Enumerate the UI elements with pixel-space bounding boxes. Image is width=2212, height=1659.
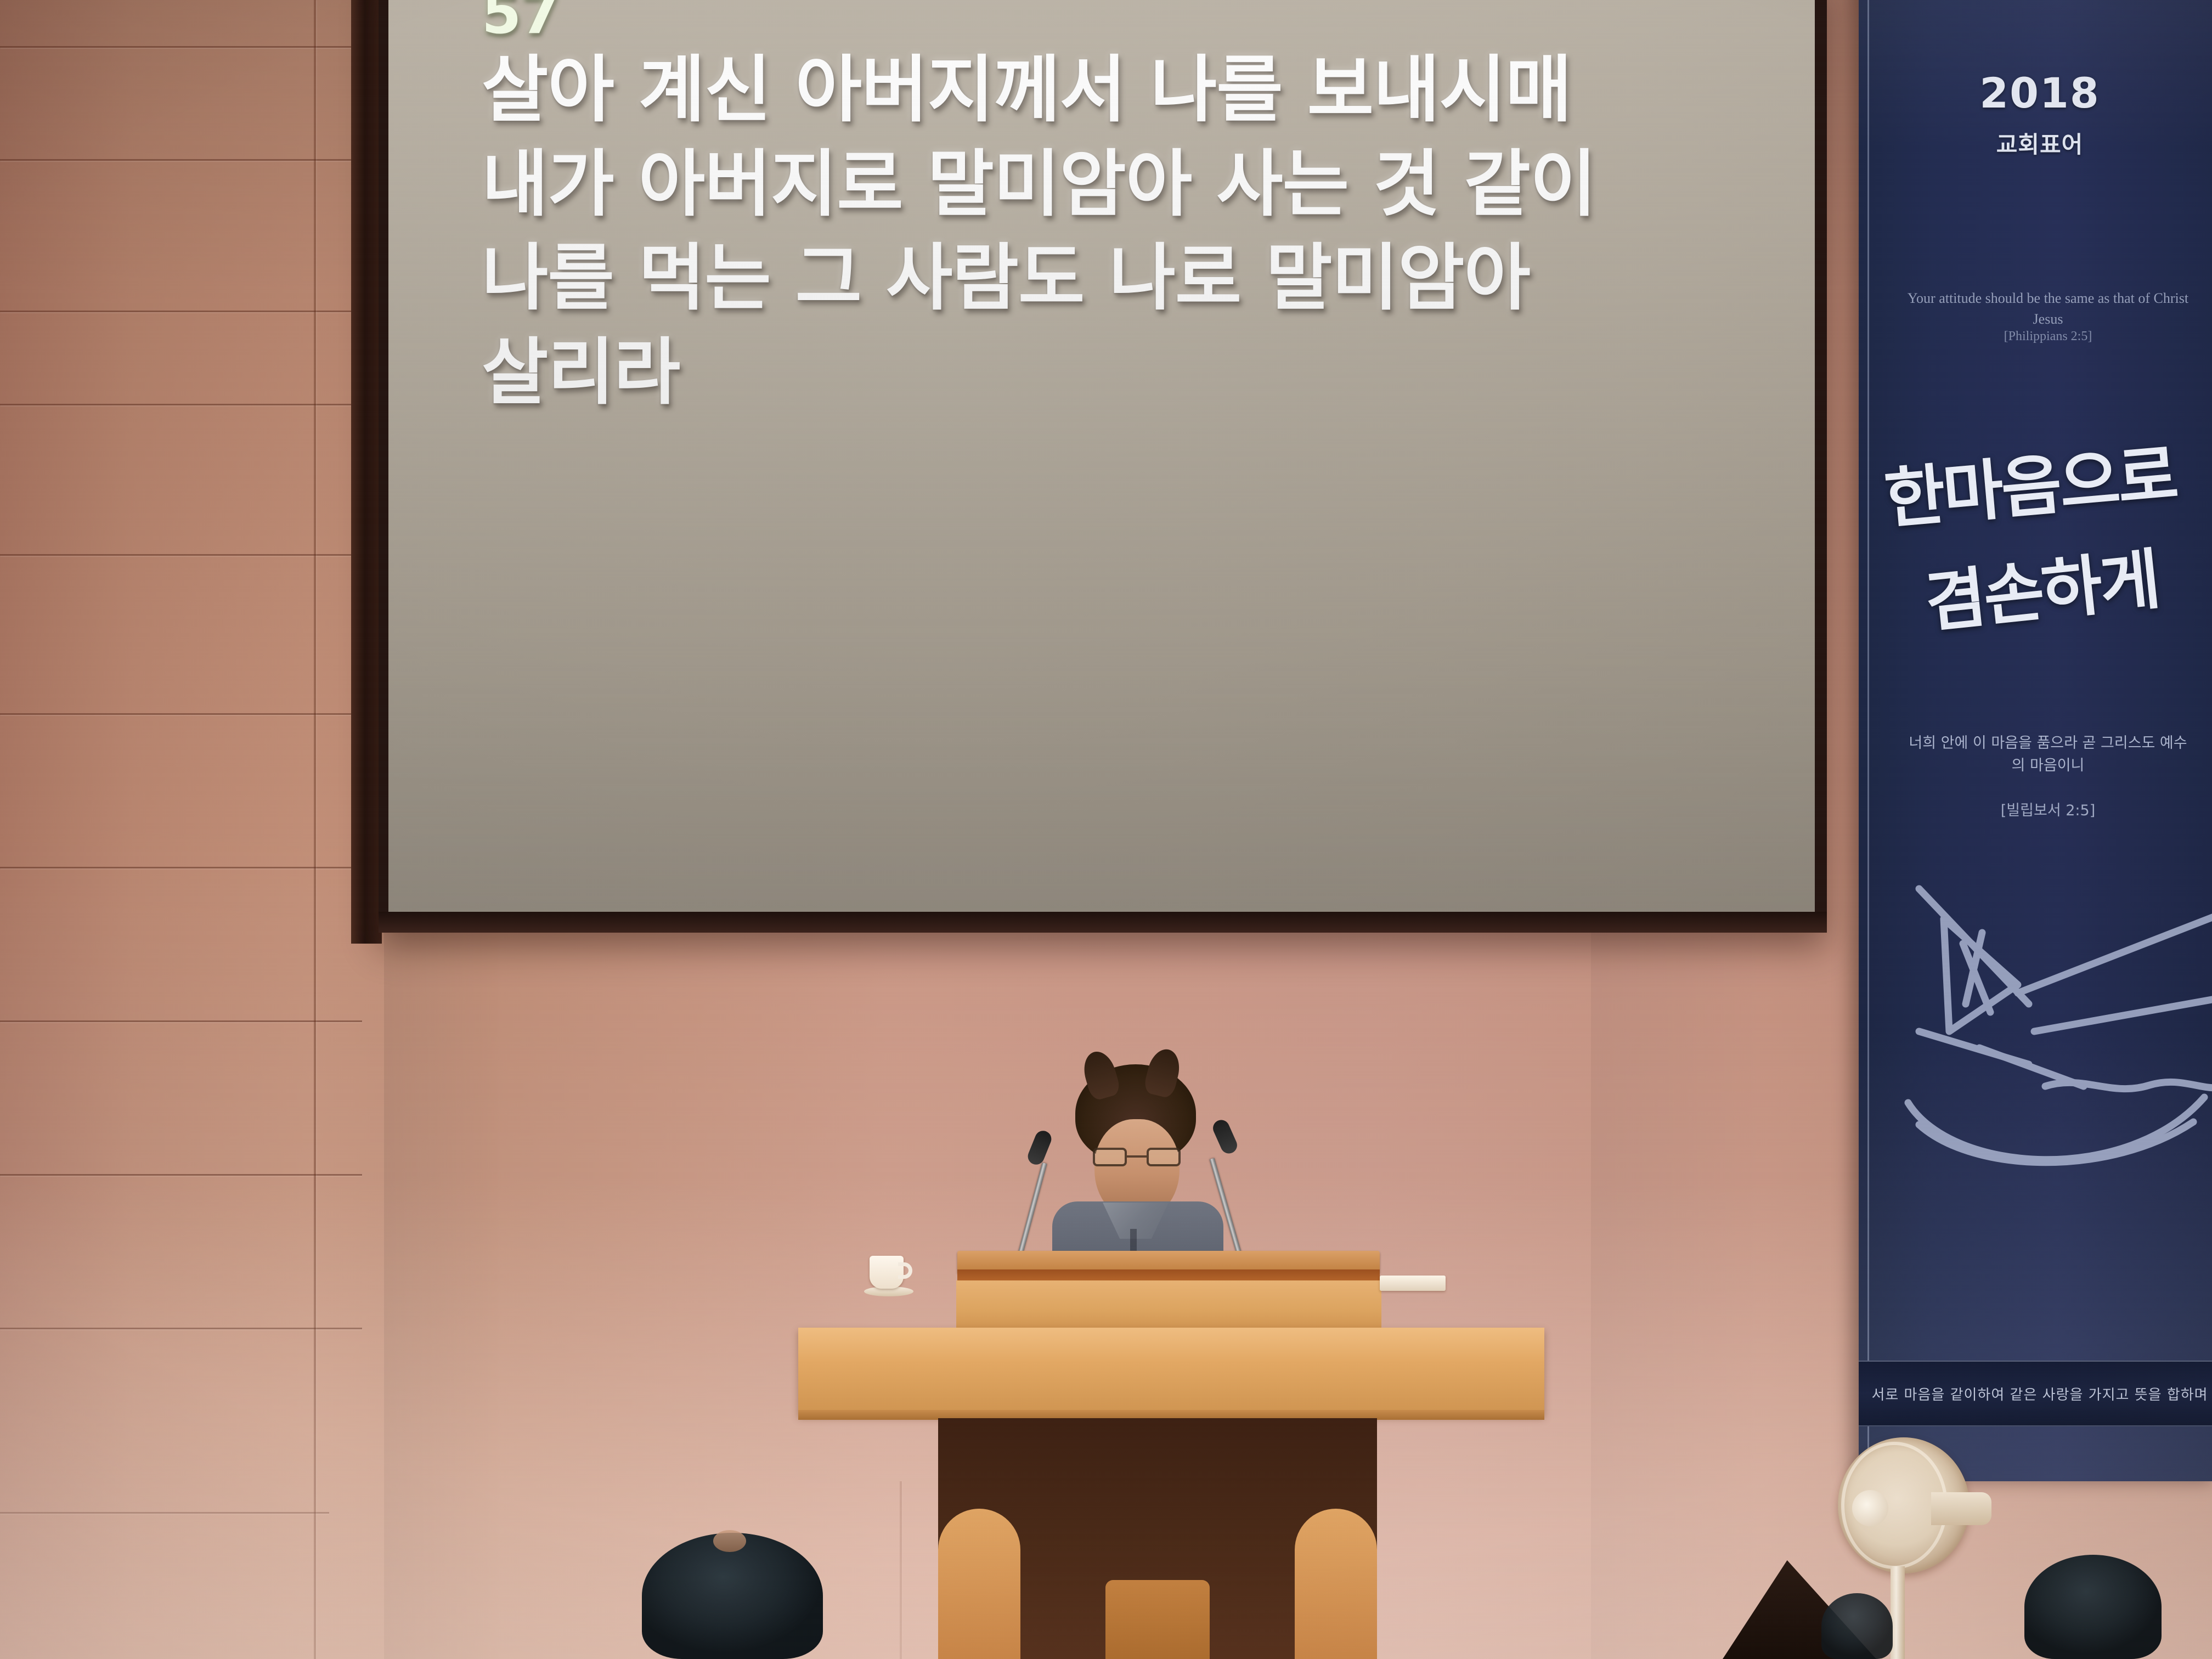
- wall-panel-seam: [0, 311, 362, 312]
- pulpit-leg-right: [1295, 1509, 1377, 1659]
- wall-panel-seam: [0, 46, 362, 48]
- banner-footer-text: 서로 마음을 같이하여 같은 사랑을 가지고 뜻을 합하며: [1871, 1384, 2208, 1404]
- banner-english-verse: Your attitude should be the same as that…: [1897, 288, 2199, 329]
- slide-text-line-1: 살아 계신 아버지께서 나를 보내시매: [482, 43, 1793, 138]
- pulpit-leg-left: [938, 1509, 1020, 1659]
- eyeglass-bridge: [1127, 1155, 1147, 1158]
- banner-footer-band: 서로 마음을 같이하여 같은 사랑을 가지고 뜻을 합하며: [1859, 1361, 2212, 1426]
- wall-panel-seam: [0, 1512, 329, 1514]
- wall-panel-vertical-seam: [314, 0, 316, 1659]
- audience-hair-wisp: [713, 1530, 746, 1552]
- eyeglass-lens-left: [1093, 1148, 1127, 1166]
- wooden-pulpit: [798, 1251, 1544, 1659]
- slide-text-line-2: 내가 아버지로 말미암아 사는 것 같이: [482, 138, 1793, 232]
- projection-screen-frame: 57 살아 계신 아버지께서 나를 보내시매 내가 아버지로 말미암아 사는 것…: [379, 0, 1827, 933]
- wall-panel-seam: [0, 159, 362, 161]
- projection-screen-surface: 57 살아 계신 아버지께서 나를 보내시매 내가 아버지로 말미암아 사는 것…: [388, 0, 1815, 913]
- coffee-cup: [864, 1248, 913, 1299]
- slide-number: 57: [482, 0, 1793, 43]
- wall-recess-strip: [351, 0, 382, 944]
- slide-text-line-3: 나를 먹는 그 사람도 나로 말미암아: [482, 232, 1793, 326]
- fishing-boat-illustration: [1859, 867, 2212, 1207]
- wall-panel-seam: [0, 1328, 362, 1329]
- wall-panel-seam: [0, 1174, 362, 1176]
- pulpit-upper-front-panel: [956, 1280, 1381, 1331]
- audience-head: [2024, 1555, 2162, 1659]
- eyeglass-lens-right: [1147, 1148, 1181, 1166]
- banner-subtitle: 교회표어: [1859, 126, 2212, 160]
- banner-calligraphy-line-2: 겸손하게: [1920, 526, 2162, 645]
- wall-panel-seam: [0, 404, 362, 405]
- wall-panel-seam: [0, 1020, 362, 1022]
- banner-korean-reference: [빌립보서 2:5]: [1908, 798, 2188, 820]
- pulpit-desk-surface: [798, 1328, 1544, 1415]
- white-paper-on-desk: [1380, 1276, 1446, 1291]
- banner-year: 2018: [1859, 69, 2212, 117]
- slide-text-line-4: 살리라: [482, 326, 1793, 420]
- banner-calligraphy-line-1: 한마음으로: [1880, 421, 2179, 541]
- wall-panel-seam: [0, 867, 362, 868]
- banner-english-reference: [Philippians 2:5]: [1897, 329, 2199, 344]
- banner-korean-verse: 너희 안에 이 마음을 품으라 곧 그리스도 예수의 마음이니: [1908, 732, 2188, 777]
- screen-bottom-frame-bar: [379, 912, 1827, 933]
- banner-left-edge-line: [1867, 0, 1869, 1481]
- eyeglasses-icon: [1093, 1148, 1181, 1166]
- pulpit-center-support: [1105, 1580, 1210, 1659]
- sanctuary-photo: 57 살아 계신 아버지께서 나를 보내시매 내가 아버지로 말미암아 사는 것…: [0, 0, 2212, 1659]
- wall-panel-seam: [0, 554, 362, 556]
- wall-panel-seam: [0, 713, 362, 715]
- fan-hub: [1852, 1490, 1888, 1526]
- pulpit-top-shadow-band: [957, 1269, 1380, 1282]
- cup-handle: [898, 1262, 912, 1279]
- audience-head: [1821, 1593, 1893, 1659]
- fan-neck: [1931, 1492, 1991, 1525]
- church-motto-banner: 2018 교회표어 Your attitude should be the sa…: [1859, 0, 2212, 1481]
- presentation-slide: 57 살아 계신 아버지께서 나를 보내시매 내가 아버지로 말미암아 사는 것…: [482, 0, 1793, 420]
